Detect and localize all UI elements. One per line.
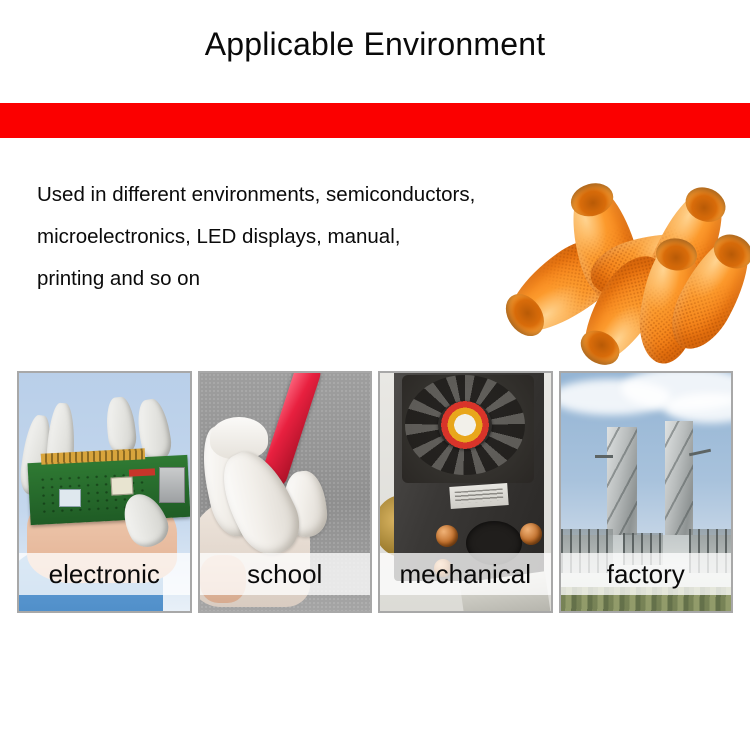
application-gallery: electronic school (17, 371, 733, 613)
board-capacitor (129, 468, 155, 476)
board-port (159, 467, 185, 503)
tile-caption: mechanical (380, 553, 551, 595)
description-line-1: Used in different environments, semicond… (37, 174, 597, 216)
page-title: Applicable Environment (0, 24, 750, 64)
tile-caption: electronic (19, 553, 190, 595)
board-chip (59, 489, 81, 507)
board-chip (111, 476, 134, 495)
stack-platform (595, 455, 613, 458)
description-block: Used in different environments, semicond… (37, 174, 597, 300)
tile-school[interactable]: school (198, 371, 373, 613)
tile-factory[interactable]: factory (559, 371, 734, 613)
tile-electronic[interactable]: electronic (17, 371, 192, 613)
copper-heatpipe (436, 525, 458, 547)
spec-sticker (449, 483, 508, 509)
finger-cot-cuff (574, 324, 625, 372)
tile-caption: school (200, 553, 371, 595)
finger-cot-cuff (680, 181, 731, 228)
accent-divider (0, 103, 750, 138)
description-line-2: microelectronics, LED displays, manual, (37, 216, 597, 258)
fan-hub-label (438, 401, 492, 449)
tile-mechanical[interactable]: mechanical (378, 371, 553, 613)
description-line-3: printing and so on (37, 258, 597, 300)
tile-caption: factory (561, 553, 732, 595)
copper-heatpipe (520, 523, 542, 545)
